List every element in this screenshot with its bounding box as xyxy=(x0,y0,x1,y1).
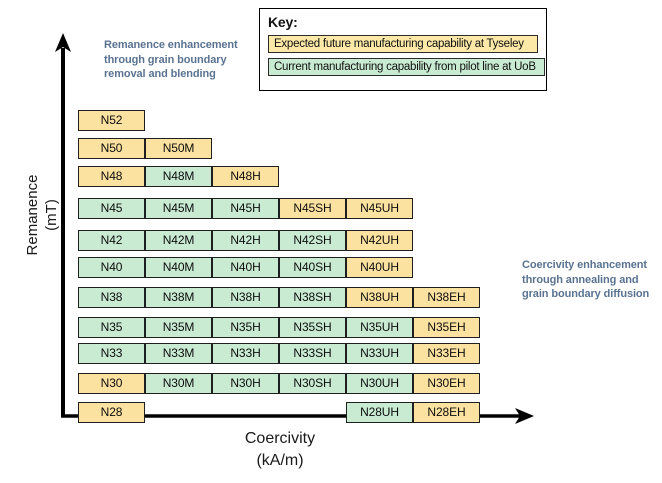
grade-cell-n30: N30 xyxy=(78,373,145,394)
y-axis-arrow xyxy=(55,33,71,52)
grade-cell-n30m: N30M xyxy=(145,373,212,394)
grade-cell-n48: N48 xyxy=(78,166,145,187)
y-axis-label-line2: (mT) xyxy=(42,145,61,285)
grade-cell-n38h: N38H xyxy=(212,287,279,308)
grade-cell-n35uh: N35UH xyxy=(346,317,413,338)
grade-cell-n30uh: N30UH xyxy=(346,373,413,394)
annotation-remanence: Remanence enhancement through grain boun… xyxy=(104,38,249,82)
grade-row: N40N40MN40HN40SHN40UH xyxy=(78,257,480,278)
grade-cell-n33m: N33M xyxy=(145,343,212,364)
grade-cell-n42: N42 xyxy=(78,230,145,251)
grade-cell-n33: N33 xyxy=(78,343,145,364)
grade-row: N38N38MN38HN38SHN38UHN38EH xyxy=(78,287,480,308)
grade-cell-n33sh: N33SH xyxy=(279,343,346,364)
grade-cell-n50: N50 xyxy=(78,138,145,159)
x-axis-label: Coercivity (kA/m) xyxy=(170,428,390,472)
grade-cell-n38eh: N38EH xyxy=(413,287,480,308)
grade-cell-n40m: N40M xyxy=(145,257,212,278)
grade-cell-n45: N45 xyxy=(78,198,145,219)
y-axis-label-line1: Remanence xyxy=(23,145,42,285)
grade-cell-n35eh: N35EH xyxy=(413,317,480,338)
annotation-coercivity: Coercivity enhancement through annealing… xyxy=(522,258,662,302)
grade-cell-n38: N38 xyxy=(78,287,145,308)
grade-cell-n45h: N45H xyxy=(212,198,279,219)
grade-cell-n30sh: N30SH xyxy=(279,373,346,394)
grade-cell-n45uh: N45UH xyxy=(346,198,413,219)
grade-cell-n38m: N38M xyxy=(145,287,212,308)
grade-row: N30N30MN30HN30SHN30UHN30EH xyxy=(78,373,480,394)
grade-cell-n52: N52 xyxy=(78,110,145,131)
grade-cell-n38uh: N38UH xyxy=(346,287,413,308)
grade-cell-n42sh: N42SH xyxy=(279,230,346,251)
grade-cell-n45m: N45M xyxy=(145,198,212,219)
grade-cell-n30eh: N30EH xyxy=(413,373,480,394)
grade-cell-n42uh: N42UH xyxy=(346,230,413,251)
x-axis-label-line2: (kA/m) xyxy=(170,450,390,472)
grade-cell-n40: N40 xyxy=(78,257,145,278)
legend-box: Key: Expected future manufacturing capab… xyxy=(259,8,547,91)
grade-cell-n40sh: N40SH xyxy=(279,257,346,278)
grade-cell-n33eh: N33EH xyxy=(413,343,480,364)
grade-row: N28N28UHN28EH xyxy=(78,402,480,423)
grade-cell-n28uh: N28UH xyxy=(346,402,413,423)
grade-cell-n40h: N40H xyxy=(212,257,279,278)
grade-cell-n33h: N33H xyxy=(212,343,279,364)
grade-row: N35N35MN35HN35SHN35UHN35EH xyxy=(78,317,480,338)
legend-title: Key: xyxy=(268,14,538,30)
x-axis-arrow xyxy=(515,408,534,424)
grade-row: N42N42MN42HN42SHN42UH xyxy=(78,230,480,251)
grade-cell-n48h: N48H xyxy=(212,166,279,187)
grade-row: N50N50M xyxy=(78,138,480,159)
legend-item-future: Expected future manufacturing capability… xyxy=(268,35,538,53)
grade-cell-n28: N28 xyxy=(78,402,145,423)
grade-cell-n42h: N42H xyxy=(212,230,279,251)
grade-cell-n35: N35 xyxy=(78,317,145,338)
grade-cell-n35sh: N35SH xyxy=(279,317,346,338)
grade-cell-n40uh: N40UH xyxy=(346,257,413,278)
legend-item-current: Current manufacturing capability from pi… xyxy=(268,58,545,76)
grade-row: N45N45MN45HN45SHN45UH xyxy=(78,198,480,219)
grade-cell-n35h: N35H xyxy=(212,317,279,338)
grade-cell-n42m: N42M xyxy=(145,230,212,251)
grade-cell-n28eh: N28EH xyxy=(413,402,480,423)
grade-cell-n50m: N50M xyxy=(145,138,212,159)
y-axis-label: Remanence (mT) xyxy=(23,145,61,285)
grade-cell-n38sh: N38SH xyxy=(279,287,346,308)
grade-cell-n45sh: N45SH xyxy=(279,198,346,219)
grade-cell-n30h: N30H xyxy=(212,373,279,394)
grade-row: N48N48MN48H xyxy=(78,166,480,187)
grade-row: N52 xyxy=(78,110,480,131)
grade-row: N33N33MN33HN33SHN33UHN33EH xyxy=(78,343,480,364)
x-axis-label-line1: Coercivity xyxy=(170,428,390,450)
grade-cell-n35m: N35M xyxy=(145,317,212,338)
grade-cell-n33uh: N33UH xyxy=(346,343,413,364)
grade-cell-n48m: N48M xyxy=(145,166,212,187)
